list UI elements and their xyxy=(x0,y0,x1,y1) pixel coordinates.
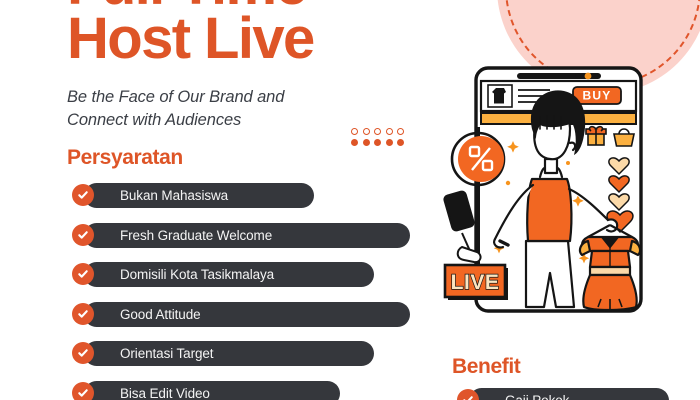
dot-row-hollow xyxy=(351,128,404,135)
requirement-label: Bisa Edit Video xyxy=(120,386,210,400)
dot-hollow-icon xyxy=(374,128,381,135)
dot-solid-icon xyxy=(363,139,370,146)
page-subtitle: Be the Face of Our Brand and Connect wit… xyxy=(67,86,284,133)
requirement-label: Domisili Kota Tasikmalaya xyxy=(120,267,274,282)
requirements-heading: Persyaratan xyxy=(67,146,183,170)
dot-hollow-icon xyxy=(397,128,404,135)
requirement-pill: Orientasi Target xyxy=(84,341,374,366)
requirement-label: Orientasi Target xyxy=(120,346,213,361)
check-icon xyxy=(72,224,94,246)
live-shopping-illustration: BUY xyxy=(440,55,700,317)
dot-solid-icon xyxy=(386,139,393,146)
page-title: Full Time Host Live xyxy=(67,0,314,66)
dot-hollow-icon xyxy=(363,128,370,135)
dot-hollow-icon xyxy=(386,128,393,135)
check-icon xyxy=(72,382,94,400)
check-icon xyxy=(72,263,94,285)
dot-grid-decoration xyxy=(351,128,404,150)
requirement-pill: Domisili Kota Tasikmalaya xyxy=(84,262,374,287)
check-icon xyxy=(72,184,94,206)
requirement-pill: Good Attitude xyxy=(84,302,410,327)
requirement-label: Fresh Graduate Welcome xyxy=(120,228,272,243)
buy-button-label: BUY xyxy=(583,89,612,103)
dot-row-solid xyxy=(351,139,404,146)
requirement-label: Bukan Mahasiswa xyxy=(120,188,228,203)
poster-canvas: Full Time Host Live Be the Face of Our B… xyxy=(0,0,700,400)
dot-solid-icon xyxy=(351,139,358,146)
check-icon xyxy=(72,342,94,364)
left-content-column: Full Time Host Live Be the Face of Our B… xyxy=(0,0,440,400)
live-badge-label: LIVE xyxy=(451,271,500,294)
check-icon xyxy=(72,303,94,325)
requirement-pill: Bukan Mahasiswa xyxy=(84,183,314,208)
dot-solid-icon xyxy=(397,139,404,146)
benefit-heading: Benefit xyxy=(452,355,520,379)
requirement-pill: Fresh Graduate Welcome xyxy=(84,223,410,248)
benefit-pill: Gaji Pokok xyxy=(469,388,669,400)
dot-solid-icon xyxy=(374,139,381,146)
requirement-label: Good Attitude xyxy=(120,307,201,322)
benefit-label: Gaji Pokok xyxy=(505,393,569,400)
dot-hollow-icon xyxy=(351,128,358,135)
requirement-pill: Bisa Edit Video xyxy=(84,381,340,400)
